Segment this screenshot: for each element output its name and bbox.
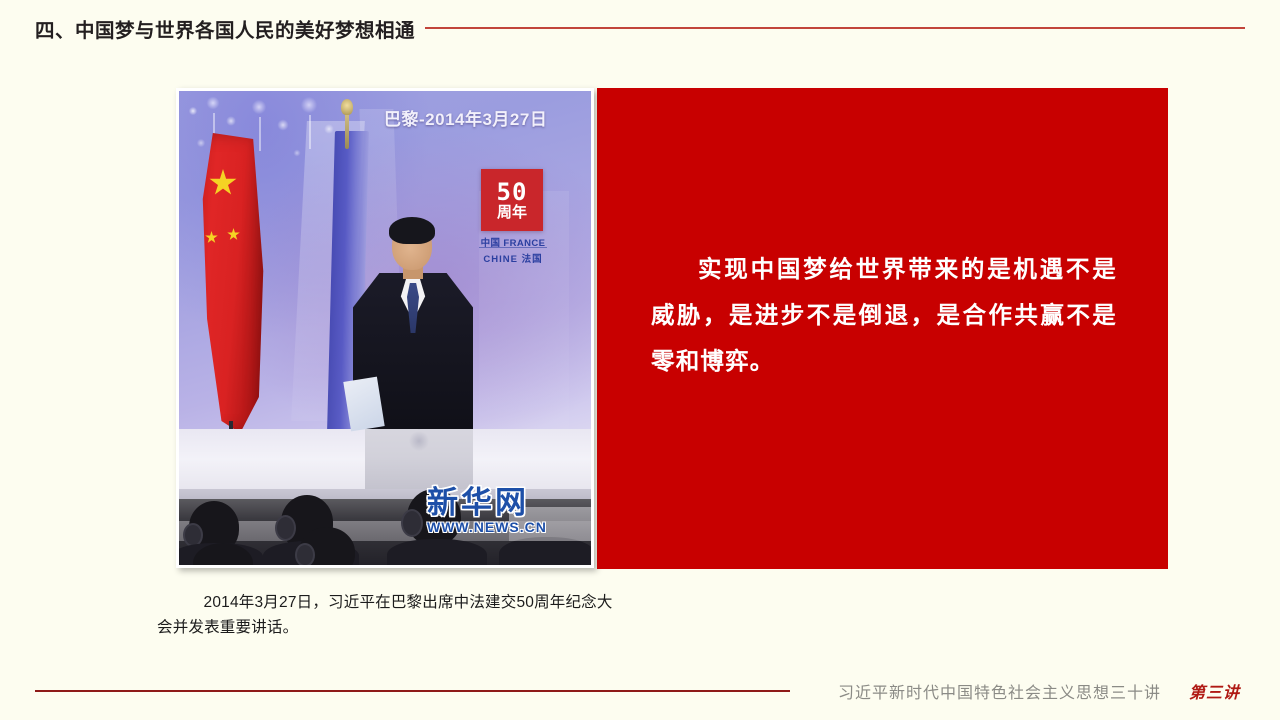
speaker-hair bbox=[389, 217, 435, 244]
slide-header: 四、中国梦与世界各国人民的美好梦想相通 bbox=[0, 0, 1280, 56]
chandelier-stem bbox=[309, 115, 311, 149]
news-watermark: 新华网 WWW.NEWS.CN bbox=[427, 487, 577, 536]
flag-finial-icon bbox=[341, 99, 353, 115]
audience-shoulders bbox=[387, 539, 487, 565]
flag-pole bbox=[345, 109, 349, 149]
audience-shoulders bbox=[499, 537, 591, 565]
footer-series-title: 习近平新时代中国特色社会主义思想三十讲 bbox=[838, 679, 1161, 703]
anniversary-number: 50 bbox=[497, 180, 528, 204]
footer-lecture-number: 第三讲 bbox=[1189, 679, 1240, 703]
photo-caption: 2014年3月27日，习近平在巴黎出席中法建交50周年纪念大会并发表重要讲话。 bbox=[157, 590, 627, 640]
photo-image: 巴黎-2014年3月27日 50 周年 中国 FRANCE CHINE 法国 bbox=[179, 91, 591, 565]
logo-divider bbox=[479, 247, 547, 248]
quote-text: 实现中国梦给世界带来的是机遇不是威胁，是进步不是倒退，是合作共赢不是零和博弈。 bbox=[651, 246, 1117, 384]
logo-caption-line2: CHINE 法国 bbox=[469, 251, 557, 265]
anniversary-label: 周年 bbox=[497, 205, 527, 221]
anniversary-logo: 50 周年 bbox=[481, 169, 543, 231]
header-divider-line bbox=[425, 27, 1245, 29]
headset-icon bbox=[275, 515, 296, 541]
headset-icon bbox=[295, 543, 315, 565]
chandelier-crystals bbox=[179, 91, 359, 183]
footer-divider-line bbox=[35, 690, 790, 692]
watermark-brand: 新华网 bbox=[427, 487, 577, 518]
slide-canvas: 四、中国梦与世界各国人民的美好梦想相通 巴黎-2014年3月27日 50 bbox=[0, 0, 1280, 720]
watermark-url: WWW.NEWS.CN bbox=[427, 518, 577, 536]
headset-icon bbox=[401, 509, 423, 537]
page-title: 四、中国梦与世界各国人民的美好梦想相通 bbox=[35, 14, 415, 43]
photo-frame: 巴黎-2014年3月27日 50 周年 中国 FRANCE CHINE 法国 bbox=[176, 88, 594, 568]
quote-panel: 实现中国梦给世界带来的是机遇不是威胁，是进步不是倒退，是合作共赢不是零和博弈。 bbox=[597, 88, 1168, 569]
backdrop-date-text: 巴黎-2014年3月27日 bbox=[384, 105, 547, 130]
chandelier-stem bbox=[259, 117, 261, 151]
